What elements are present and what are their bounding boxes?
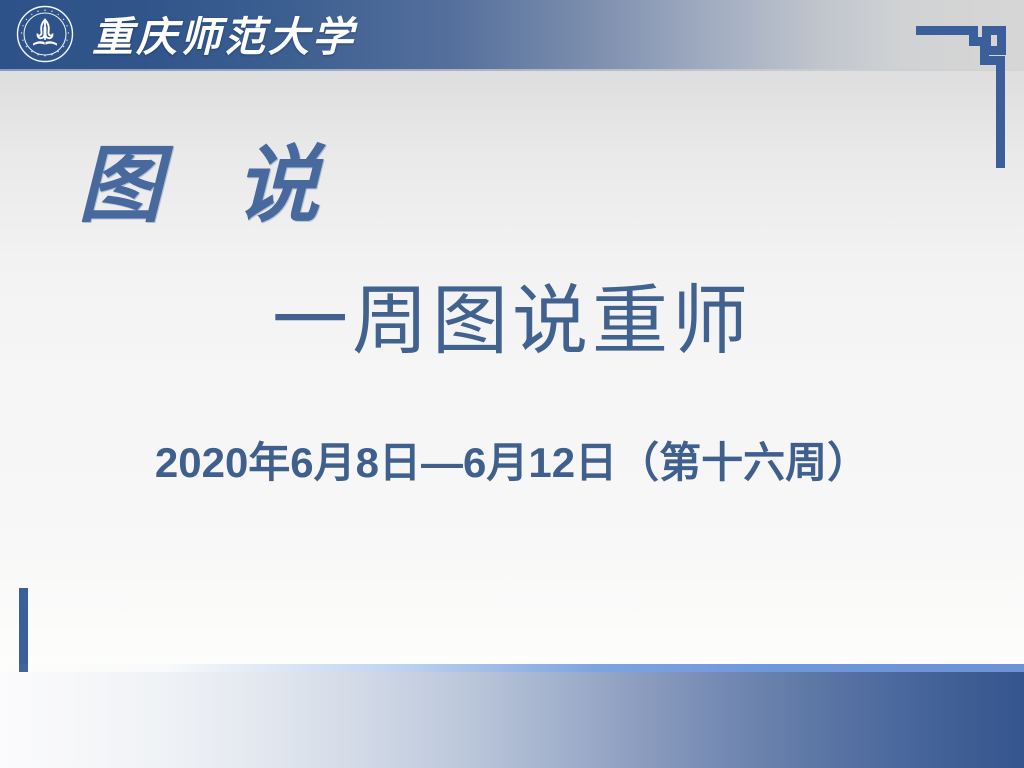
corner-bracket-top-right-icon	[916, 6, 1012, 174]
bottom-band	[0, 672, 1024, 768]
university-seal-icon	[16, 5, 74, 63]
university-wordmark: 重庆师范大学	[92, 2, 356, 64]
date-range-subtitle: 2020年6月8日—6月12日（第十六周）	[0, 429, 1024, 490]
page-title: 一周图说重师	[0, 282, 1024, 362]
bottom-band-accent-line	[0, 664, 1024, 672]
title-slide: 重庆师范大学	[0, 0, 1024, 768]
header-underline	[0, 69, 1024, 71]
brush-title: 图 说	[78, 143, 341, 227]
